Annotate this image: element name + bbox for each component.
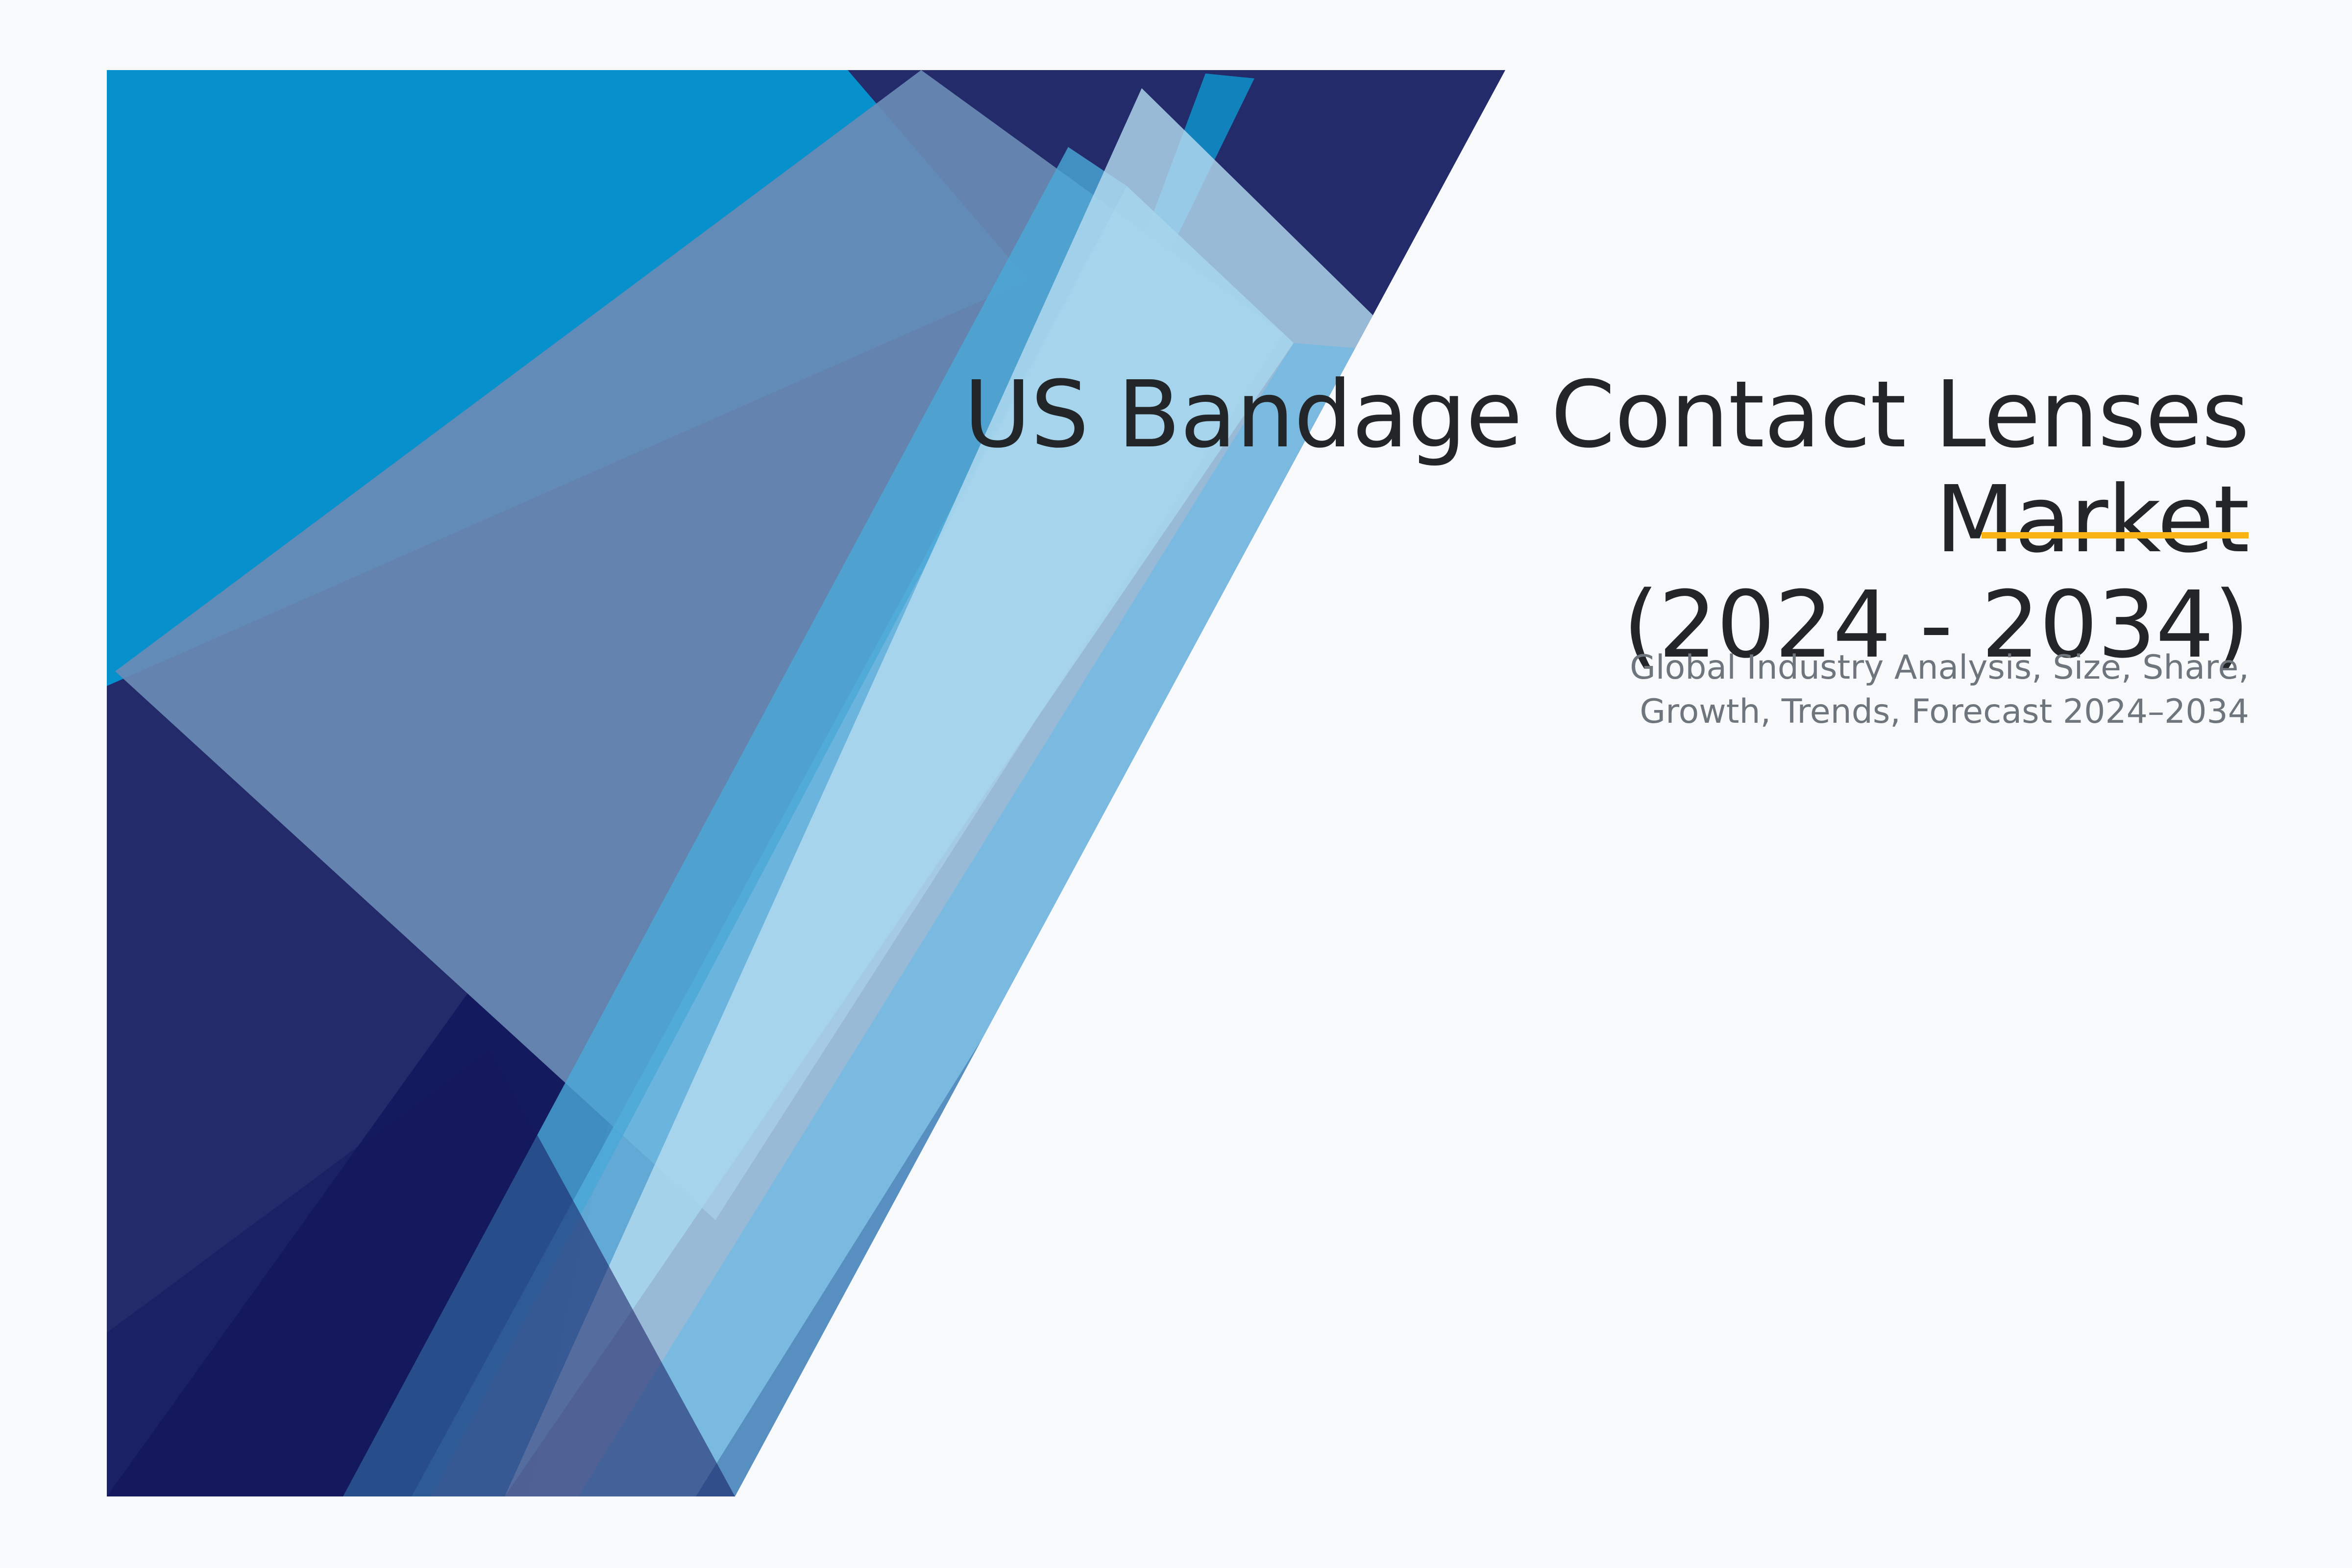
title-block: US Bandage Contact Lenses Market (2024 -… [833,363,2249,678]
page-subtitle: Global Industry Analysis, Size, Share, G… [1372,646,2249,734]
abstract-geometric-cover-graphic [0,0,2352,1568]
title-accent-underline [1982,532,2249,539]
accent-bar [1982,532,2249,539]
cover-page: US Bandage Contact Lenses Market (2024 -… [0,0,2352,1568]
page-title: US Bandage Contact Lenses Market (2024 -… [833,363,2249,678]
